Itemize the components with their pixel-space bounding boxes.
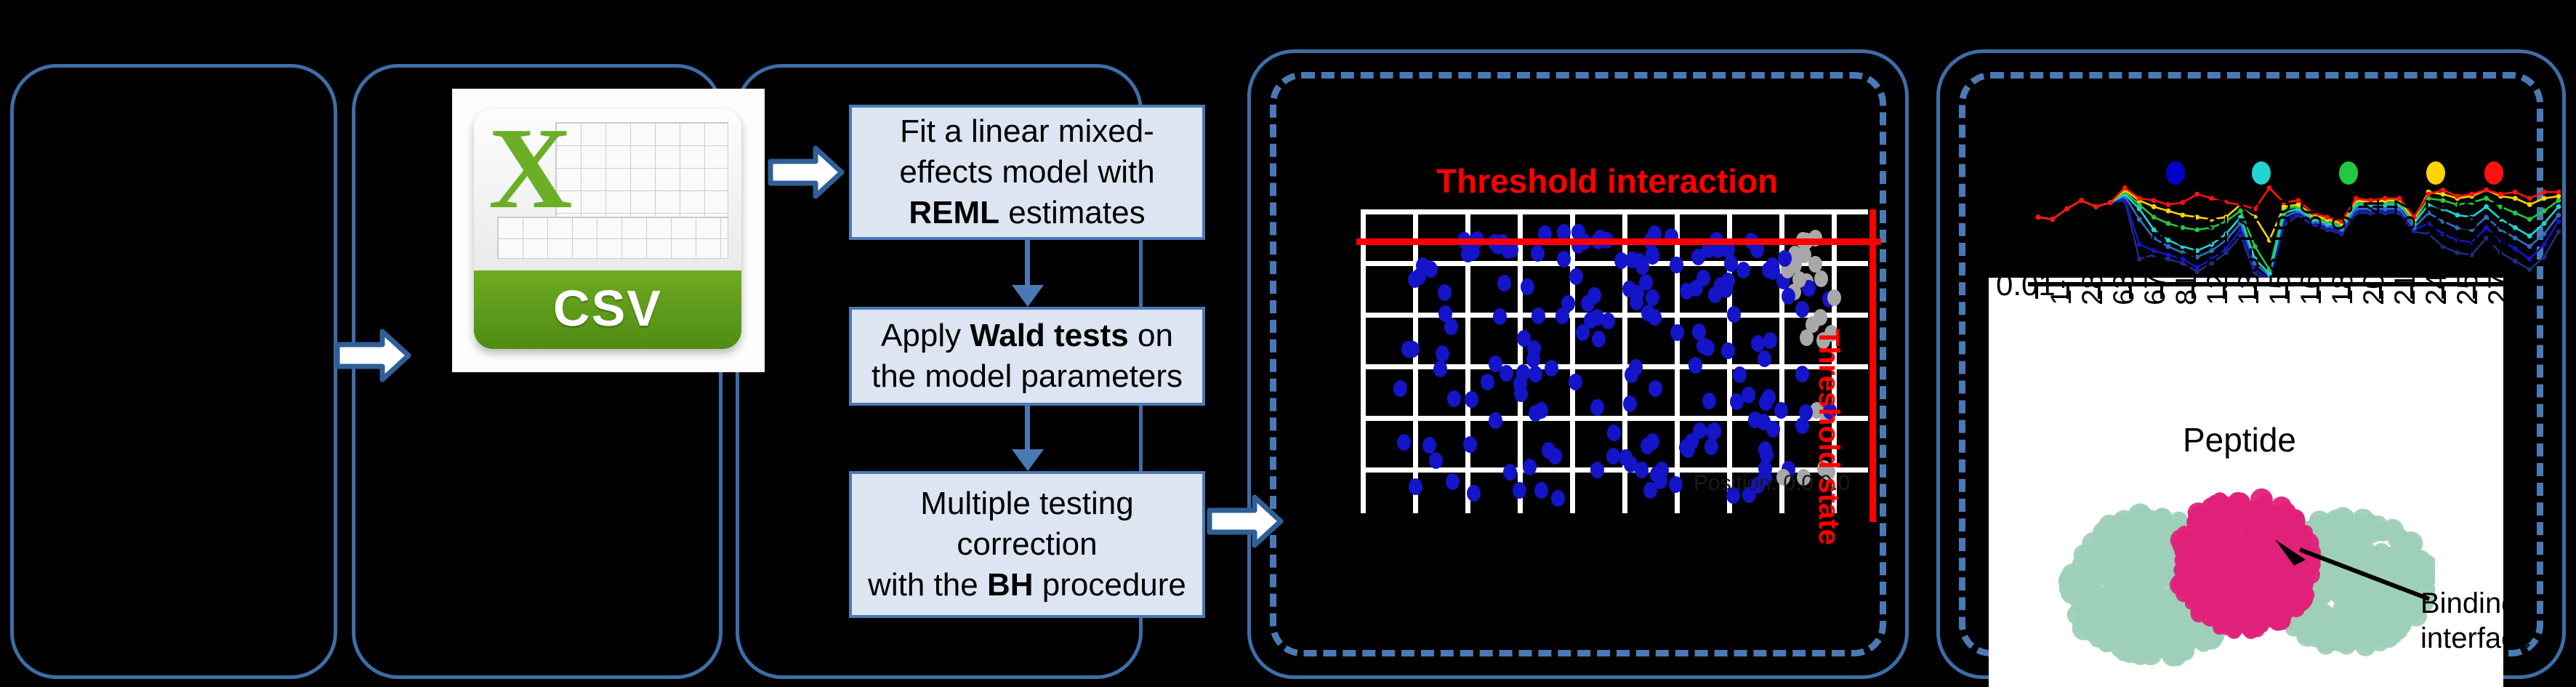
scatter-point [1531, 308, 1545, 324]
scatter-point [1625, 366, 1638, 383]
workflow-diagram: X CSV Fit a linear mixed-effects model w… [0, 0, 2576, 687]
line-point [2542, 196, 2547, 201]
csv-label: CSV [474, 279, 741, 337]
line-point [2108, 200, 2113, 205]
line-point [2440, 188, 2445, 193]
step-box-wald: Apply Wald tests on the model parameters [849, 307, 1205, 406]
protein-atom [2263, 613, 2277, 626]
x-axis-tick-label: 277-284 [2483, 198, 2516, 305]
protein-atom [2145, 643, 2160, 658]
protein-atom [2194, 540, 2206, 553]
x-axis-tick [2317, 286, 2319, 299]
scatter-point [1702, 393, 1716, 409]
x-axis-tick-label: 135-144 [2233, 198, 2266, 305]
threshold-interaction-line [1356, 238, 1881, 245]
line-point [2152, 214, 2157, 220]
scatter-point [1587, 287, 1601, 304]
pointer-arrow-icon [2268, 539, 2435, 605]
line-point [2166, 209, 2171, 214]
x-axis-tick [2410, 286, 2413, 299]
scatter-point [1493, 308, 1507, 325]
step-3-text: Multiple testing correctionwith the BH p… [859, 483, 1195, 606]
protein-atom [2250, 593, 2269, 613]
protein-atom [2177, 526, 2191, 540]
scatter-point [1704, 438, 1718, 455]
scatter-point [1489, 412, 1502, 429]
scatter-point [1534, 402, 1548, 419]
scatter-point [1523, 459, 1537, 475]
scatter-point [1534, 482, 1548, 499]
protein-atom [2175, 546, 2187, 558]
excel-x-glyph: X [488, 113, 573, 222]
scatter-point [1827, 289, 1841, 306]
x-axis-tick [2379, 286, 2382, 299]
scatter-point [1622, 281, 1636, 297]
protein-atom [2194, 505, 2207, 517]
scatter-point [1696, 270, 1710, 286]
line-point [2064, 206, 2069, 212]
x-axis-tick [2285, 286, 2288, 299]
scatter-point [1408, 271, 1422, 288]
protein-atom [2120, 526, 2143, 549]
scatter-point [1646, 433, 1659, 450]
step-1-text: Fit a linear mixed-effects model with RE… [859, 111, 1195, 233]
scatter-point [1590, 399, 1604, 416]
threshold-interaction-label: Threshold interaction [1436, 161, 1778, 201]
scatter-point [1551, 490, 1565, 507]
line-point [2542, 190, 2547, 195]
x-axis-tick-label: 67-75 [2139, 231, 2172, 305]
x-axis-tick [2066, 286, 2069, 299]
line-point [2513, 190, 2518, 195]
line-point [2527, 233, 2532, 238]
line-point [2527, 196, 2532, 201]
scatter-point [1521, 278, 1534, 295]
protein-atom [2080, 571, 2097, 588]
protein-atom [2145, 520, 2162, 537]
scatter-point [1447, 390, 1461, 407]
line-point [2469, 192, 2474, 197]
scatter-point [1446, 473, 1460, 490]
x-axis-tick-label: 167-180 [2295, 198, 2328, 305]
scatter-point [1513, 482, 1526, 499]
scatter-point [1557, 251, 1571, 268]
scatter-point [1795, 301, 1809, 318]
protein-atom [2385, 621, 2401, 637]
scatter-point [1692, 324, 1706, 340]
connector-line [1025, 240, 1030, 286]
scatter-point [1500, 365, 1513, 382]
protein-atom [2381, 523, 2394, 537]
line-point [2152, 198, 2157, 203]
binding-label-line1: Binding [2420, 586, 2532, 621]
scatter-point [1623, 395, 1637, 412]
line-point [2050, 217, 2055, 222]
line-point [2498, 192, 2503, 197]
x-axis-tick-label: 184-199 [2327, 198, 2359, 305]
volcano-scatter-plot [1361, 209, 1868, 513]
line-point [2556, 204, 2561, 209]
x-axis-tick [2098, 286, 2101, 299]
scatter-point [1736, 262, 1750, 278]
scatter-point [1792, 271, 1806, 288]
scatter-point [1670, 257, 1683, 273]
line-point [2542, 209, 2547, 214]
line-point [2527, 257, 2532, 262]
line-point [2556, 212, 2561, 217]
line-point [2527, 244, 2532, 249]
x-axis-title: Peptide [1989, 420, 2490, 459]
scatter-point [1721, 342, 1735, 359]
x-axis-tick-label: 63-73 [2108, 231, 2141, 305]
binding-label-line2: interface [2420, 621, 2532, 656]
x-axis-tick [2254, 286, 2257, 299]
scatter-point [1757, 414, 1771, 430]
scatter-point [1527, 340, 1541, 357]
scatter-point [1592, 331, 1606, 347]
scatter-point [1701, 340, 1715, 356]
scatter-point [1542, 442, 1555, 459]
scatter-point [1481, 374, 1494, 390]
line-point [2484, 188, 2489, 193]
line-point [2527, 202, 2532, 207]
protein-atom [2285, 515, 2299, 529]
scatter-point [1763, 332, 1777, 349]
scatter-point [1727, 306, 1741, 323]
connector-line [1025, 406, 1030, 451]
line-point [2036, 214, 2041, 220]
scatter-point [1569, 374, 1582, 390]
line-point [2556, 190, 2561, 195]
scatter-point [1619, 449, 1633, 466]
line-point [2093, 204, 2098, 209]
scatter-point [1654, 473, 1667, 489]
protein-atom [2213, 621, 2226, 635]
scatter-point [1497, 275, 1511, 292]
right-arrow-icon [768, 144, 845, 201]
scatter-point [1433, 361, 1447, 377]
threshold-state-label: Threshold state [1812, 329, 1845, 545]
scatter-point [1438, 284, 1452, 301]
threshold-state-line [1869, 209, 1876, 522]
protein-atom [2216, 549, 2230, 563]
scatter-point [1646, 289, 1659, 306]
connector-arrowhead [1012, 285, 1044, 307]
scatter-point [1799, 404, 1813, 421]
x-axis-tick-label: 1-15 [2045, 247, 2078, 305]
scatter-point [1555, 308, 1569, 324]
protein-atom [2307, 608, 2324, 625]
x-axis-tick [2442, 286, 2444, 299]
line-point [2556, 219, 2561, 224]
step-2-text: Apply Wald tests on the model parameters [859, 316, 1195, 397]
scatter-point [1514, 385, 1528, 402]
protein-atom [2239, 615, 2262, 638]
scatter-point [1590, 462, 1604, 478]
scatter-point [1601, 313, 1615, 329]
line-point [2122, 185, 2128, 190]
protein-atom [2170, 636, 2194, 660]
step-box-reml: Fit a linear mixed-effects model with RE… [849, 105, 1205, 240]
x-axis-tick [2223, 286, 2226, 299]
protein-atom [2085, 558, 2099, 573]
scatter-point [1689, 357, 1702, 374]
line-point [2527, 267, 2532, 272]
scatter-point [1814, 270, 1828, 287]
scatter-point [1569, 268, 1583, 285]
protein-atom [2339, 510, 2354, 525]
x-axis-tick-label: 258-266 [2452, 198, 2484, 305]
scatter-point [1465, 391, 1478, 408]
scatter-point [1393, 380, 1407, 397]
protein-atom [2121, 587, 2136, 602]
protein-atom [2360, 609, 2379, 628]
line-point [2194, 192, 2199, 197]
scatter-point [1646, 248, 1659, 265]
protein-atom [2107, 603, 2125, 621]
scatter-point [1795, 366, 1809, 382]
protein-atom [2348, 521, 2364, 538]
scatter-point [1733, 366, 1747, 383]
csv-file-icon: X CSV [452, 89, 765, 372]
line-point [2426, 192, 2431, 197]
protein-atom [2191, 606, 2207, 622]
scatter-point [1639, 274, 1653, 291]
right-arrow-icon [334, 327, 411, 384]
x-axis-tick-label: 241-257 [2420, 198, 2453, 305]
protein-atom [2235, 572, 2249, 586]
scatter-point [1531, 245, 1545, 262]
line-point [2152, 204, 2157, 209]
line-point [2556, 229, 2561, 234]
line-point [2267, 185, 2272, 190]
x-axis-tick-label: 200-214 [2358, 198, 2391, 305]
x-axis-tick-label: 218-237 [2389, 198, 2422, 305]
protein-atom [2240, 593, 2253, 606]
scatter-point [1633, 253, 1646, 270]
protein-atom [2120, 642, 2141, 663]
scatter-point [1607, 425, 1621, 441]
step-box-bh: Multiple testing correctionwith the BH p… [849, 471, 1205, 618]
x-axis-tick [2160, 286, 2163, 299]
binding-interface-label: Binding interface [2420, 586, 2532, 656]
scatter-point [1529, 366, 1542, 382]
scatter-point [1669, 476, 1683, 493]
scatter-point [1670, 324, 1684, 341]
scatter-point [1467, 485, 1481, 502]
protein-atom [2210, 493, 2230, 513]
line-point [2079, 198, 2084, 203]
x-axis-tick [2191, 286, 2194, 299]
data-panel [10, 64, 337, 679]
line-point [2542, 242, 2547, 247]
line-point [2542, 254, 2547, 260]
scatter-point [1503, 464, 1517, 481]
line-point [2542, 231, 2547, 236]
x-axis-tick-label: 81-101 [2170, 214, 2203, 305]
line-point [2166, 202, 2171, 207]
protein-atom [2090, 632, 2104, 647]
scatter-point [1762, 389, 1776, 406]
scatter-point [1758, 441, 1772, 458]
scatter-point [1409, 478, 1422, 495]
scatter-point [1774, 402, 1788, 419]
scatter-point [1436, 345, 1449, 362]
x-axis-tick [2473, 286, 2476, 299]
scatter-point [1545, 360, 1558, 377]
scatter-point [1438, 305, 1452, 322]
scatter-point [1429, 452, 1443, 469]
scatter-point [1742, 387, 1755, 403]
protein-atom [2271, 497, 2292, 517]
scatter-point [1422, 437, 1436, 454]
right-arrow-icon [1207, 493, 1284, 550]
line-point [2180, 200, 2185, 205]
scatter-point [1778, 250, 1792, 267]
scatter-point [1584, 312, 1598, 329]
x-axis-tick-label: 122-129 [2202, 198, 2234, 305]
line-point [2137, 217, 2142, 222]
scatter-point [1463, 436, 1477, 453]
protein-atom [2103, 523, 2120, 540]
protein-atom [2330, 608, 2350, 627]
protein-atom [2142, 558, 2160, 576]
protein-atom [2239, 506, 2258, 526]
scatter-point [1681, 441, 1695, 458]
connector-arrowhead [1012, 449, 1044, 471]
scatter-point [1649, 380, 1662, 397]
line-point [2527, 217, 2532, 222]
scatter-point [1606, 448, 1620, 465]
x-axis-tick [2129, 286, 2132, 299]
scatter-point [1680, 283, 1694, 300]
x-axis-tick [2348, 286, 2351, 299]
x-axis-tick [2035, 286, 2038, 299]
x-axis-tick-label: 158-166 [2264, 198, 2297, 305]
protein-atom [2181, 582, 2204, 605]
scatter-point [1751, 335, 1765, 352]
line-point [2137, 196, 2142, 201]
scatter-point [1397, 434, 1411, 451]
protein-atom [2202, 569, 2218, 585]
protein-atom [2314, 630, 2334, 651]
protein-atom [2058, 570, 2081, 592]
scatter-point [1691, 249, 1705, 265]
x-axis-tick-label: 28-44 [2077, 231, 2109, 305]
scatter-point [1758, 350, 1771, 367]
scatter-point [1648, 309, 1662, 326]
scatter-point [1707, 423, 1721, 440]
line-point [2542, 221, 2547, 226]
scatter-point [1730, 393, 1744, 410]
scatter-point [1782, 288, 1795, 305]
